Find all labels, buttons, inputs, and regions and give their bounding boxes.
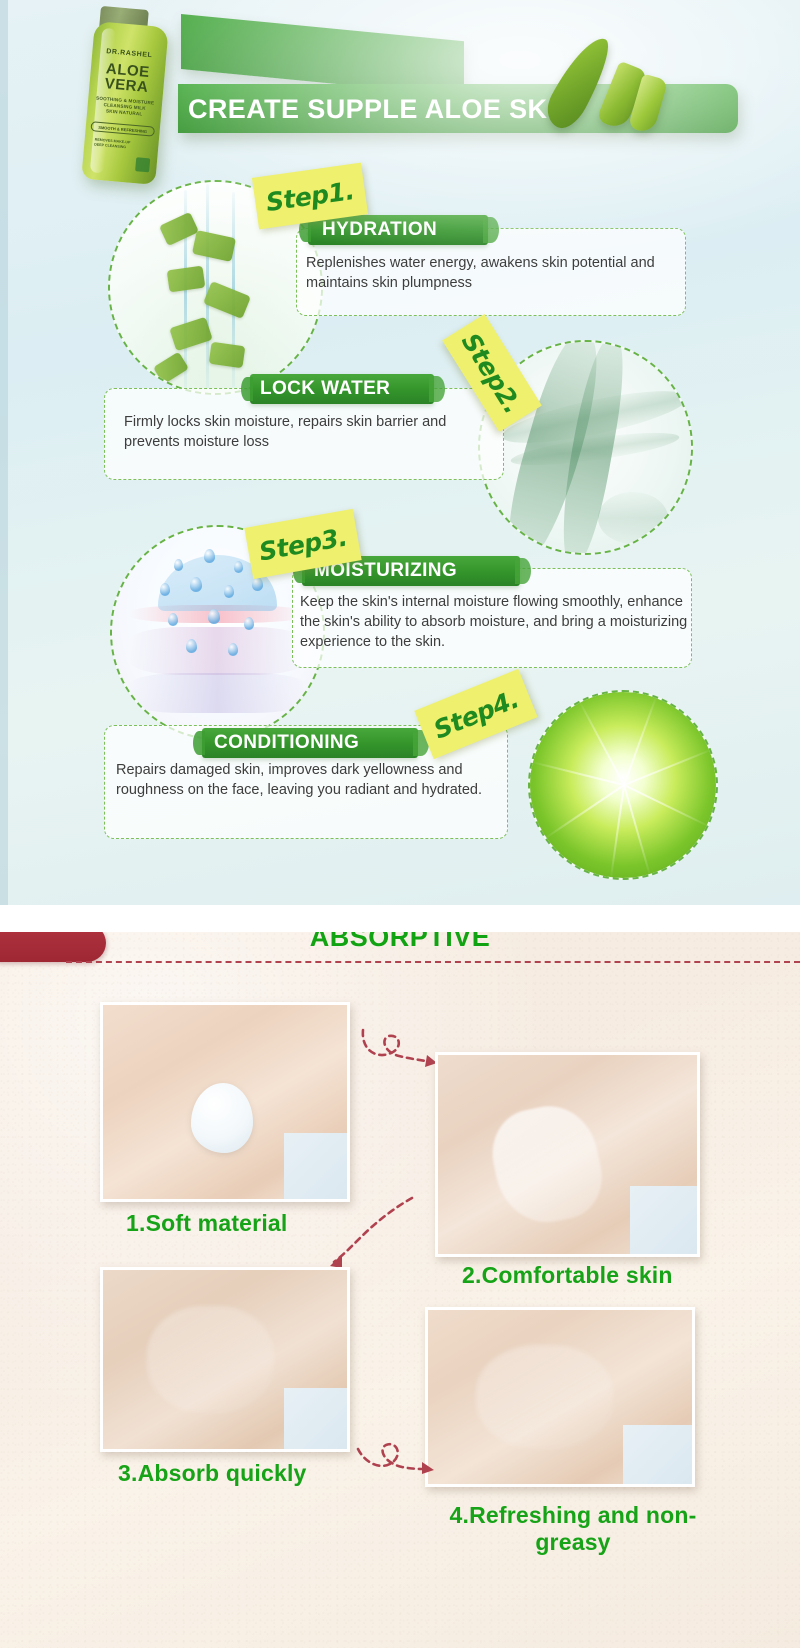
absorb-caption-2: 2.Comfortable skin [462,1262,673,1289]
step-4-body: Repairs damaged skin, improves dark yell… [116,760,496,800]
arrow-1-to-2-icon [355,1022,445,1082]
absorb-photo-1 [100,1002,350,1202]
arrow-2-to-3-icon [320,1192,420,1272]
step-4-image [528,690,718,880]
absorb-caption-3: 3.Absorb quickly [118,1460,307,1487]
step-3-body: Keep the skin's internal moisture flowin… [300,592,690,652]
bottle-leaf-icon [135,157,150,172]
bottle-fine-print: REMOVES MAKE-UP DEEP CLEANSING [84,137,159,153]
left-edge-strip [0,0,8,905]
bottle-pill-label: SMOOTH & REFRESHING [85,121,160,137]
absorb-photo-2 [435,1052,700,1257]
bottle-subtitle: SOOTHING & MOISTURE CLEANSING MILK SKIN … [87,95,162,119]
aloe-leaf-icon [555,28,685,133]
absorb-photo-4 [425,1307,695,1487]
arrow-3-to-4-icon [352,1427,442,1487]
step-2-body: Firmly locks skin moisture, repairs skin… [124,412,494,452]
absorptive-title: ABSORPTIVE [0,932,800,953]
steps-section: CREATE SUPPLE ALOE SKIN DR.RASHEL ALOE V… [0,0,800,905]
absorb-caption-1: 1.Soft material [126,1210,288,1237]
red-dashed-divider [66,961,800,963]
step-2-heading: LOCK WATER [260,374,390,404]
step-1-heading: HYDRATION [322,215,437,245]
bottle-brand: DR.RASHEL [92,47,166,60]
product-bottle: DR.RASHEL ALOE VERA SOOTHING & MOISTURE … [70,8,180,183]
bottle-body: DR.RASHEL ALOE VERA SOOTHING & MOISTURE … [81,21,168,185]
absorb-caption-4: 4.Refreshing and non-greasy [448,1502,698,1556]
absorb-photo-3 [100,1267,350,1452]
step-4-heading: CONDITIONING [214,728,359,758]
step-1-body: Replenishes water energy, awakens skin p… [306,253,666,293]
absorptive-section: ABSORPTIVE 1.Soft material 2.Comfortable… [0,932,800,1648]
